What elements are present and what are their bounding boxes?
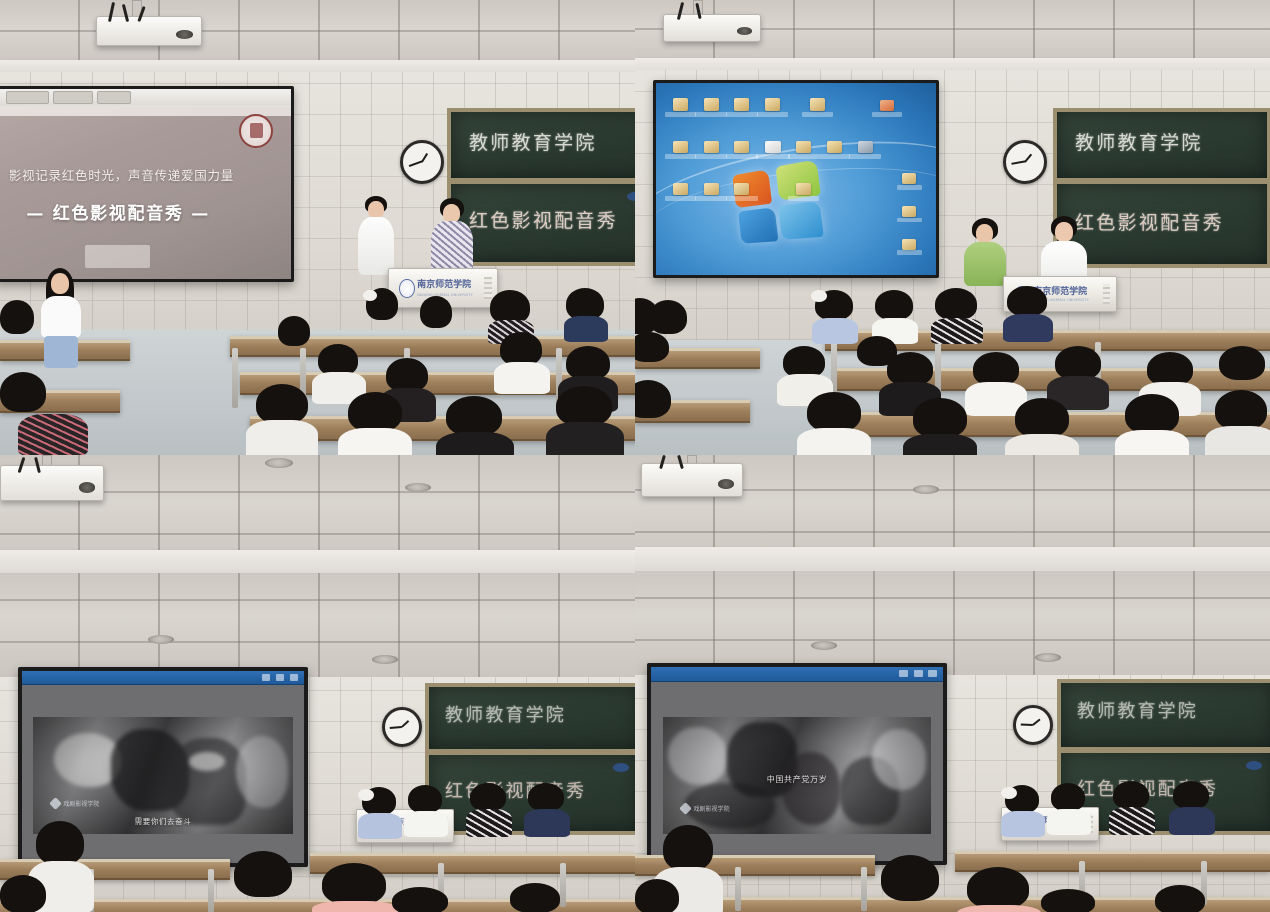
media-player-titlebar [651, 667, 943, 682]
judge [1005, 785, 1041, 835]
student-head [18, 400, 88, 455]
student-head [967, 867, 1033, 912]
student-head [566, 288, 606, 338]
blackboard-text-line1: 教师教育学院 [1075, 128, 1203, 155]
student-head [446, 396, 506, 455]
host-male [356, 196, 396, 276]
desktop-icon[interactable] [902, 173, 916, 191]
blackboard-upper: 教师教育学院 [1057, 679, 1270, 751]
student-head [973, 352, 1021, 414]
judge [1113, 781, 1151, 833]
woman-with-phone [38, 268, 84, 368]
ceiling-speaker-icon [1035, 653, 1061, 662]
watermark-icon [680, 802, 693, 815]
desktop-icon[interactable] [796, 183, 811, 203]
judge [875, 290, 915, 342]
ceiling-speaker-icon [405, 483, 431, 492]
watermark-text: 戏剧影视学院 [63, 799, 99, 808]
desktop-icon[interactable] [765, 98, 780, 118]
wall-clock [400, 140, 444, 184]
desktop-icon[interactable] [704, 183, 719, 203]
panel-top-right: 教师教育学院 红色影视配音秀 [635, 0, 1270, 455]
judge [470, 783, 508, 835]
film-watermark: 戏剧影视学院 [681, 804, 729, 813]
speaker-white-top [1041, 216, 1087, 284]
wall-clock [1003, 140, 1047, 184]
blackboard-upper: 教师教育学院 [425, 683, 635, 753]
student-head [556, 386, 616, 455]
desktop-icon[interactable] [673, 141, 688, 161]
student-head [881, 855, 943, 912]
student-head [1155, 885, 1207, 912]
desktop-icon[interactable] [810, 98, 825, 118]
panel-bottom-right: 教师教育学院 红色影视配音秀 [635, 455, 1270, 912]
student-head [392, 887, 450, 912]
desktop-icon[interactable] [796, 141, 811, 161]
student-head [420, 296, 454, 340]
desktop-icon[interactable] [765, 141, 781, 161]
desktop-icon[interactable] [827, 141, 842, 161]
desktop-icon[interactable] [673, 183, 688, 203]
student-head [1125, 394, 1183, 455]
panel-bottom-left: 教师教育学院 红色影视配音秀 [0, 455, 635, 912]
ceiling-speaker-icon [913, 485, 939, 494]
judge [935, 288, 979, 342]
title-slide: 影视记录红色时光，声音传递爱国力量 — 红色影视配音秀 — [0, 89, 291, 279]
wall-clock [1013, 705, 1053, 745]
judge [362, 787, 398, 837]
student-head [366, 288, 400, 332]
judge [408, 785, 444, 835]
host-female [430, 198, 474, 276]
student-head [635, 298, 661, 352]
desktop-icon[interactable] [880, 100, 894, 118]
lectern-emblem-icon [399, 279, 415, 298]
watermark-icon [50, 798, 63, 811]
student-head [322, 863, 390, 912]
student-head [913, 398, 971, 455]
desktop-icon[interactable] [704, 141, 719, 161]
watermark-text: 戏剧影视学院 [693, 804, 729, 813]
student-head [348, 392, 406, 455]
judge [1173, 781, 1211, 833]
student-head [1215, 390, 1270, 455]
student-head [500, 332, 544, 392]
desktop-icon[interactable] [902, 206, 916, 224]
student-head [1041, 889, 1097, 912]
blackboard-upper: 教师教育学院 [447, 108, 635, 182]
desktop-icon[interactable] [734, 98, 749, 118]
media-player-titlebar [22, 671, 304, 685]
projection-screen-frame [653, 80, 939, 278]
student-head [0, 300, 36, 346]
student-head [510, 883, 562, 912]
blackboard-text-line2: 红色影视配音秀 [1075, 208, 1224, 235]
desktop-icon[interactable] [858, 141, 873, 161]
windows-desktop [656, 83, 936, 275]
student-head [635, 380, 675, 440]
slide-emblem-icon [239, 114, 273, 148]
blackboard-text-line1: 教师教育学院 [469, 128, 597, 155]
desktop-icon[interactable] [734, 183, 749, 203]
judge [1051, 783, 1087, 833]
student-head [234, 851, 296, 912]
ceiling-speaker-icon [372, 655, 398, 664]
film-watermark: 戏剧影视学院 [51, 799, 99, 808]
blackboard-lower: 红色影视配音秀 [447, 180, 635, 266]
speaker-green-top [964, 218, 1006, 284]
blackboard-text-line1: 教师教育学院 [445, 701, 566, 727]
ceiling-speaker-icon [148, 635, 174, 644]
student-head [807, 392, 865, 455]
student-head [278, 316, 312, 358]
photo-collage: 教师教育学院 红色影视配音秀 影视记录红色时光，声音传递爱国力量 — 红色影视配… [0, 0, 1270, 912]
slide-title: — 红色影视配音秀 — [26, 199, 210, 224]
judge [815, 290, 855, 342]
projection-screen-frame: 影视记录红色时光，声音传递爱国力量 — 红色影视配音秀 — [0, 86, 294, 282]
wall-clock [382, 707, 422, 747]
student-head [1015, 398, 1073, 455]
blackboard-text-line2: 红色影视配音秀 [469, 206, 618, 233]
student-head [256, 384, 312, 455]
desktop-icon[interactable] [902, 239, 916, 257]
ceiling-speaker-icon [265, 458, 293, 468]
judge [528, 783, 566, 835]
student-head [635, 879, 681, 912]
desktop-icon[interactable] [673, 98, 688, 118]
slide-subtitle: 影视记录红色时光，声音传递爱国力量 [9, 165, 234, 184]
desktop-icon[interactable] [734, 141, 749, 161]
lectern-name: 南京师范学院 [417, 277, 471, 290]
ceiling-speaker-icon [811, 641, 837, 650]
blackboard-upper: 教师教育学院 [1053, 108, 1270, 182]
panel-top-left: 教师教育学院 红色影视配音秀 影视记录红色时光，声音传递爱国力量 — 红色影视配… [0, 0, 635, 455]
blackboard-text-line1: 教师教育学院 [1077, 697, 1198, 723]
student-head [0, 875, 48, 912]
judge [1007, 286, 1049, 340]
film-frame: 戏剧影视学院 中国共产党万岁 [663, 717, 932, 833]
desktop-icon[interactable] [704, 98, 719, 118]
film-frame: 戏剧影视学院 需要你们去奋斗 [33, 717, 292, 834]
film-subtitle: 中国共产党万岁 [663, 774, 932, 785]
